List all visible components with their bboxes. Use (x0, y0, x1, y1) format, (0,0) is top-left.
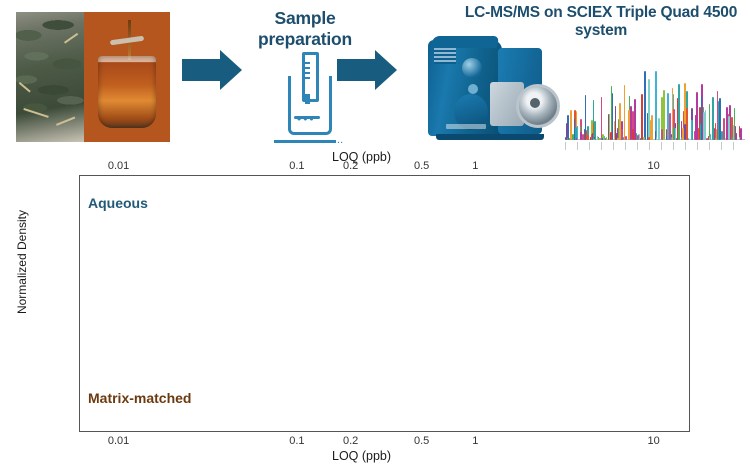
chromatogram-peak (684, 124, 686, 140)
x-tick-label: 0.2 (343, 160, 358, 172)
sample-preparation-title: Sample preparation (243, 8, 367, 49)
chromatogram-peak (686, 108, 688, 140)
chromatogram-peak (712, 97, 714, 140)
chromatogram-peak (647, 113, 649, 140)
spoon (110, 36, 144, 46)
chromatogram-peak (570, 110, 572, 141)
x-tick-label: 10 (647, 435, 659, 447)
chromatogram-peak (587, 135, 589, 140)
chromatogram-peak (723, 118, 725, 140)
chromatogram-peak (602, 138, 604, 140)
x-tick-label: 0.01 (108, 435, 129, 447)
x-tick-label: 1 (472, 160, 478, 172)
chromatogram-peak (625, 136, 627, 140)
chromatogram-peak (658, 118, 660, 140)
chromatogram-peak (663, 90, 665, 140)
tea-twig (19, 82, 31, 92)
x-tick-label: 0.5 (414, 160, 429, 172)
tea-twig (24, 108, 49, 117)
y-axis-title: Normalized Density (15, 202, 29, 322)
chromatogram-peak (655, 71, 657, 140)
tea-glass (98, 56, 156, 128)
chromatogram-peak (624, 85, 626, 141)
chromatogram-peak (635, 138, 637, 140)
chromatogram-peak (637, 135, 639, 140)
chromatogram-peak (705, 110, 707, 140)
series-label-aqueous: Aqueous (88, 195, 148, 211)
chromatogram-peak (719, 98, 721, 140)
chromatogram-image (565, 52, 745, 150)
chromatogram-peak (610, 132, 612, 140)
x-tick-label: 1 (472, 435, 478, 447)
chromatogram-peak (655, 131, 657, 140)
chromatogram-peak (567, 138, 569, 140)
x-tick-label: 0.01 (108, 160, 129, 172)
chromatogram-peak (661, 129, 663, 140)
chromatogram-peak (691, 120, 693, 140)
chromatogram-peak (617, 138, 619, 140)
chromatogram-peak (580, 132, 582, 140)
tea-cup-photo (84, 12, 170, 142)
chromatogram-peak (641, 94, 643, 141)
chromatogram-peak (669, 113, 671, 140)
x-tick-label: 0.1 (289, 435, 304, 447)
x-tick-label: 0.2 (343, 435, 358, 447)
chromatogram-peak (643, 137, 645, 140)
x-tick-label: 0.5 (414, 435, 429, 447)
chromatogram-peak (732, 137, 734, 141)
tea-twig (64, 33, 78, 43)
mass-spectrometer-image (428, 36, 563, 144)
tea-twig (56, 117, 75, 126)
x-axis-title-bottom: LOQ (ppb) (332, 449, 391, 463)
tea-leaves-photo (16, 12, 84, 142)
chromatogram-peak (632, 129, 634, 140)
chromatogram-peak (595, 138, 597, 140)
chromatogram-peak (721, 131, 723, 140)
x-tick-label: 0.1 (289, 160, 304, 172)
chromatogram-peak (728, 116, 730, 140)
chromatogram-peak (644, 71, 646, 140)
chromatogram-peak (651, 115, 653, 140)
x-tick-label: 10 (647, 160, 659, 172)
chromatogram-peak (678, 124, 680, 140)
chromatogram-peak (600, 138, 602, 140)
chromatogram-peak (703, 133, 705, 140)
workflow-banner: Sample preparation ••• ... LC-MS/MS on S… (0, 0, 750, 155)
x-axis-title-top: LOQ (ppb) (332, 150, 391, 164)
pipette-and-beaker-icon: ••• ... (272, 50, 344, 146)
series-label-matrix-matched: Matrix-matched (88, 390, 191, 406)
chromatogram-peak (736, 133, 738, 141)
chromatogram-peak (621, 129, 623, 140)
chromatogram-peak (585, 95, 587, 141)
arrow-right-icon (337, 50, 397, 90)
loq-density-plot: LOQ (ppb) Normalized Density Aqueous Mat… (0, 150, 750, 468)
chromatogram-peak (740, 128, 742, 140)
arrow-right-icon (182, 50, 242, 90)
